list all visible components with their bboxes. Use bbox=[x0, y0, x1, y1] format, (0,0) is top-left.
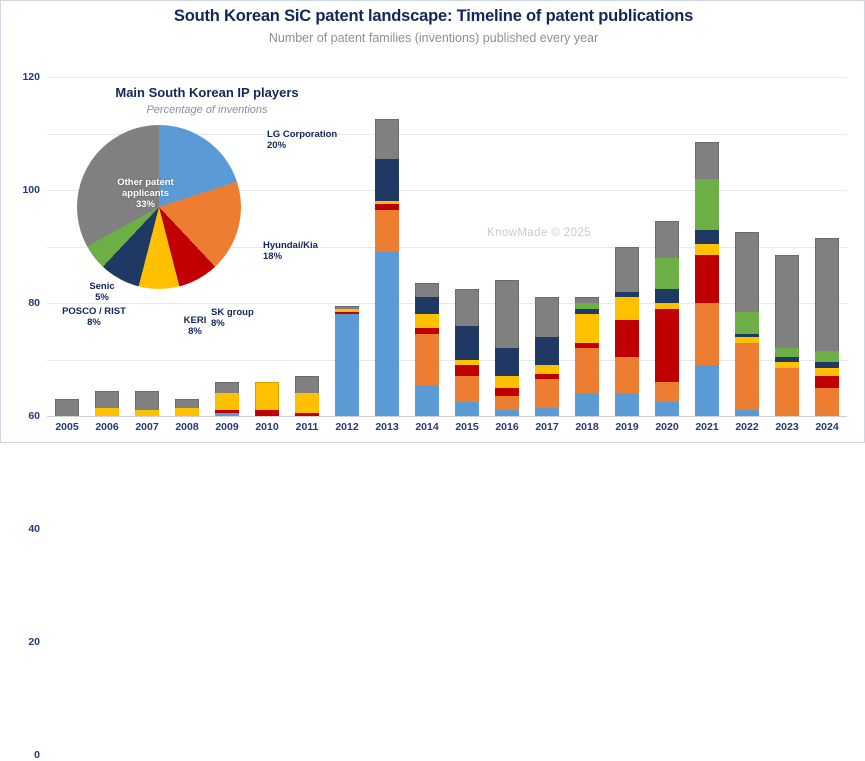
bar-segment bbox=[655, 309, 679, 382]
bar-2016[interactable] bbox=[495, 280, 519, 416]
bar-segment bbox=[575, 393, 599, 416]
bar-segment bbox=[495, 410, 519, 416]
bar-segment bbox=[615, 297, 639, 320]
bar-segment bbox=[415, 334, 439, 385]
bar-segment bbox=[255, 410, 279, 416]
y-axis-tick-label: 0 bbox=[34, 749, 40, 761]
pie-slice-value: 8% bbox=[150, 326, 240, 337]
y-axis-tick-label: 80 bbox=[28, 297, 40, 309]
bar-segment bbox=[295, 413, 319, 416]
bar-2017[interactable] bbox=[535, 297, 559, 416]
bar-segment bbox=[535, 365, 559, 373]
bar-segment bbox=[655, 289, 679, 303]
bar-segment bbox=[375, 119, 399, 159]
pie-slice-label-other: Other patent applicants 33% bbox=[93, 177, 198, 211]
bar-2014[interactable] bbox=[415, 283, 439, 416]
pie-subtitle: Percentage of inventions bbox=[87, 104, 327, 116]
bar-segment bbox=[695, 142, 719, 179]
bar-segment bbox=[775, 368, 799, 416]
bar-segment bbox=[415, 283, 439, 297]
pie-slice-name: LG Corporation bbox=[267, 129, 337, 140]
bar-segment bbox=[535, 337, 559, 365]
x-axis-tick-2024: 2024 bbox=[804, 421, 850, 433]
pie-slice-label: Senic5% bbox=[57, 281, 147, 304]
bar-segment bbox=[735, 410, 759, 416]
bar-2023[interactable] bbox=[775, 255, 799, 416]
pie-other-value: 33% bbox=[136, 199, 155, 210]
bar-segment bbox=[815, 238, 839, 351]
bar-2011[interactable] bbox=[295, 376, 319, 416]
bar-segment bbox=[495, 388, 519, 396]
pie-inset: Main South Korean IP players Percentage … bbox=[49, 85, 349, 345]
bar-segment bbox=[655, 402, 679, 416]
bar-segment bbox=[215, 382, 239, 393]
bar-segment bbox=[815, 351, 839, 362]
bar-segment bbox=[175, 408, 199, 416]
bar-segment bbox=[735, 232, 759, 311]
bar-segment bbox=[535, 408, 559, 416]
bar-2005[interactable] bbox=[55, 399, 79, 416]
bar-segment bbox=[655, 258, 679, 289]
bar-segment bbox=[815, 376, 839, 387]
y-axis-tick-label: 100 bbox=[22, 184, 40, 196]
bar-segment bbox=[455, 402, 479, 416]
bar-segment bbox=[495, 396, 519, 410]
bar-2006[interactable] bbox=[95, 391, 119, 416]
page-subtitle: Number of patent families (inventions) p… bbox=[1, 31, 865, 45]
pie-slice-name: Hyundai/Kia bbox=[263, 240, 318, 251]
bar-2007[interactable] bbox=[135, 391, 159, 416]
pie-slice-label: Hyundai/Kia18% bbox=[263, 240, 318, 263]
bar-segment bbox=[95, 408, 119, 416]
bar-2019[interactable] bbox=[615, 247, 639, 416]
bar-segment bbox=[695, 303, 719, 365]
bar-segment bbox=[135, 410, 159, 416]
y-axis-tick-label: 120 bbox=[22, 71, 40, 83]
bar-segment bbox=[575, 314, 599, 342]
pie-slice-name: POSCO / RIST bbox=[49, 306, 139, 317]
bar-segment bbox=[495, 280, 519, 348]
pie-slice-value: 20% bbox=[267, 140, 337, 151]
bar-segment bbox=[775, 348, 799, 356]
pie-slice-value: 5% bbox=[57, 292, 147, 303]
bar-2009[interactable] bbox=[215, 382, 239, 416]
bar-segment bbox=[55, 399, 79, 416]
pie-slice-label: POSCO / RIST8% bbox=[49, 306, 139, 329]
bar-segment bbox=[615, 357, 639, 394]
bar-segment bbox=[135, 391, 159, 411]
bar-segment bbox=[735, 343, 759, 411]
bar-segment bbox=[615, 393, 639, 416]
bar-segment bbox=[695, 244, 719, 255]
bar-segment bbox=[615, 320, 639, 357]
bar-2020[interactable] bbox=[655, 221, 679, 416]
bar-segment bbox=[735, 312, 759, 335]
bar-segment bbox=[455, 289, 479, 326]
bar-segment bbox=[535, 297, 559, 337]
bar-2024[interactable] bbox=[815, 238, 839, 416]
bar-segment bbox=[495, 376, 519, 387]
bar-segment bbox=[415, 385, 439, 416]
bar-segment bbox=[815, 388, 839, 416]
bar-2010[interactable] bbox=[255, 382, 279, 416]
bar-segment bbox=[415, 314, 439, 328]
bar-segment bbox=[215, 413, 239, 416]
pie-slice-label: KERI8% bbox=[150, 315, 240, 338]
bar-2018[interactable] bbox=[575, 297, 599, 416]
y-axis-tick-label: 20 bbox=[28, 636, 40, 648]
pie-slice-name: Senic bbox=[57, 281, 147, 292]
bar-segment bbox=[695, 230, 719, 244]
bar-segment bbox=[535, 379, 559, 407]
bar-segment bbox=[375, 159, 399, 201]
bar-segment bbox=[695, 255, 719, 303]
bar-segment bbox=[255, 382, 279, 410]
pie-slice-label: LG Corporation20% bbox=[267, 129, 337, 152]
bar-segment bbox=[655, 221, 679, 258]
bar-segment bbox=[575, 348, 599, 393]
bar-2015[interactable] bbox=[455, 289, 479, 416]
pie-slice-name: KERI bbox=[150, 315, 240, 326]
bar-segment bbox=[175, 399, 199, 407]
bar-2013[interactable] bbox=[375, 119, 399, 416]
bar-segment bbox=[695, 179, 719, 230]
pie-slice-value: 18% bbox=[263, 251, 318, 262]
bar-segment bbox=[495, 348, 519, 376]
bar-segment bbox=[375, 252, 399, 416]
bar-2022[interactable] bbox=[735, 232, 759, 416]
pie-other-name: Other patent applicants bbox=[117, 177, 173, 199]
bar-segment bbox=[655, 382, 679, 402]
bar-segment bbox=[815, 368, 839, 376]
pie-slice-value: 8% bbox=[49, 317, 139, 328]
bar-segment bbox=[295, 376, 319, 393]
pie-title: Main South Korean IP players bbox=[87, 85, 327, 100]
bar-segment bbox=[615, 247, 639, 292]
bar-segment bbox=[455, 326, 479, 360]
chart-page: South Korean SiC patent landscape: Timel… bbox=[1, 1, 864, 442]
y-axis-tick-label: 60 bbox=[28, 410, 40, 422]
bar-2021[interactable] bbox=[695, 142, 719, 416]
y-axis-tick-label: 40 bbox=[28, 523, 40, 535]
page-title: South Korean SiC patent landscape: Timel… bbox=[1, 7, 865, 26]
bar-segment bbox=[215, 393, 239, 410]
bar-segment bbox=[95, 391, 119, 408]
bar-segment bbox=[455, 365, 479, 376]
bar-2008[interactable] bbox=[175, 399, 199, 416]
gridline: 0 bbox=[47, 416, 847, 417]
bar-segment bbox=[415, 297, 439, 314]
bar-segment bbox=[455, 376, 479, 401]
bar-segment bbox=[775, 255, 799, 348]
bar-segment bbox=[295, 393, 319, 413]
bar-segment bbox=[695, 365, 719, 416]
bar-segment bbox=[375, 210, 399, 252]
